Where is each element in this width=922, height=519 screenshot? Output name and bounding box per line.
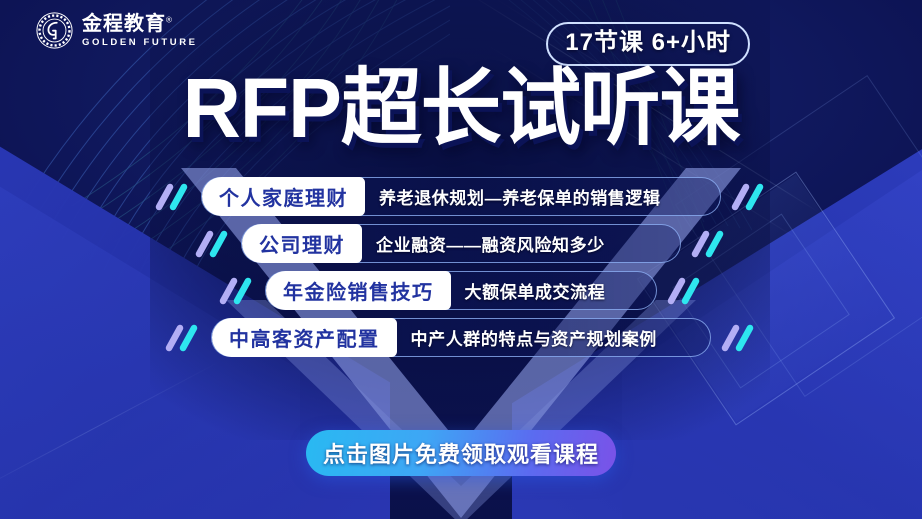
course-list: 个人家庭理财养老退休规划—养老保单的销售逻辑公司理财企业融资——融资风险知多少年… bbox=[0, 177, 922, 357]
slash-mark-left bbox=[161, 323, 205, 353]
golden-future-seal-icon bbox=[36, 12, 73, 49]
double-slash-icon bbox=[215, 276, 259, 306]
course-description: 养老退休规划—养老保单的销售逻辑 bbox=[365, 184, 661, 209]
registered-mark: ® bbox=[166, 15, 173, 24]
slash-mark-right bbox=[727, 182, 771, 212]
course-capsule[interactable]: 公司理财企业融资——融资风险知多少 bbox=[241, 224, 681, 263]
course-tag: 公司理财 bbox=[242, 224, 362, 263]
double-slash-icon bbox=[151, 182, 195, 212]
course-row: 公司理财企业融资——融资风险知多少 bbox=[191, 224, 731, 263]
course-capsule[interactable]: 年金险销售技巧大额保单成交流程 bbox=[265, 271, 657, 310]
brand-logo[interactable]: 金程教育® GOLDEN FUTURE bbox=[36, 12, 198, 49]
slash-mark-left bbox=[215, 276, 259, 306]
cta-button[interactable]: 点击图片免费领取观看课程 bbox=[306, 430, 616, 476]
slash-mark-left bbox=[191, 229, 235, 259]
double-slash-icon bbox=[663, 276, 707, 306]
slash-mark-left bbox=[151, 182, 195, 212]
course-row: 个人家庭理财养老退休规划—养老保单的销售逻辑 bbox=[151, 177, 771, 216]
course-capsule[interactable]: 中高客资产配置中产人群的特点与资产规划案例 bbox=[211, 318, 711, 357]
double-slash-icon bbox=[687, 229, 731, 259]
course-capsule[interactable]: 个人家庭理财养老退休规划—养老保单的销售逻辑 bbox=[201, 177, 721, 216]
promo-banner: 金程教育® GOLDEN FUTURE 17节课 6+小时 RFP超长试听课 个… bbox=[0, 0, 922, 519]
slash-mark-right bbox=[717, 323, 761, 353]
course-description: 大额保单成交流程 bbox=[451, 278, 606, 303]
double-slash-icon bbox=[717, 323, 761, 353]
double-slash-icon bbox=[727, 182, 771, 212]
brand-name-en: GOLDEN FUTURE bbox=[82, 38, 198, 48]
brand-logo-text: 金程教育® GOLDEN FUTURE bbox=[82, 14, 198, 48]
slash-mark-right bbox=[687, 229, 731, 259]
double-slash-icon bbox=[161, 323, 205, 353]
page-title: RFP超长试听课 bbox=[18, 68, 903, 149]
course-tag: 中高客资产配置 bbox=[212, 318, 397, 357]
course-tag: 个人家庭理财 bbox=[202, 177, 365, 216]
course-description: 中产人群的特点与资产规划案例 bbox=[397, 325, 657, 350]
course-description: 企业融资——融资风险知多少 bbox=[362, 231, 605, 256]
course-row: 年金险销售技巧大额保单成交流程 bbox=[215, 271, 707, 310]
course-count-badge: 17节课 6+小时 bbox=[546, 22, 750, 66]
double-slash-icon bbox=[191, 229, 235, 259]
course-tag: 年金险销售技巧 bbox=[266, 271, 451, 310]
slash-mark-right bbox=[663, 276, 707, 306]
course-row: 中高客资产配置中产人群的特点与资产规划案例 bbox=[161, 318, 761, 357]
brand-name-cn: 金程教育® bbox=[82, 14, 198, 34]
